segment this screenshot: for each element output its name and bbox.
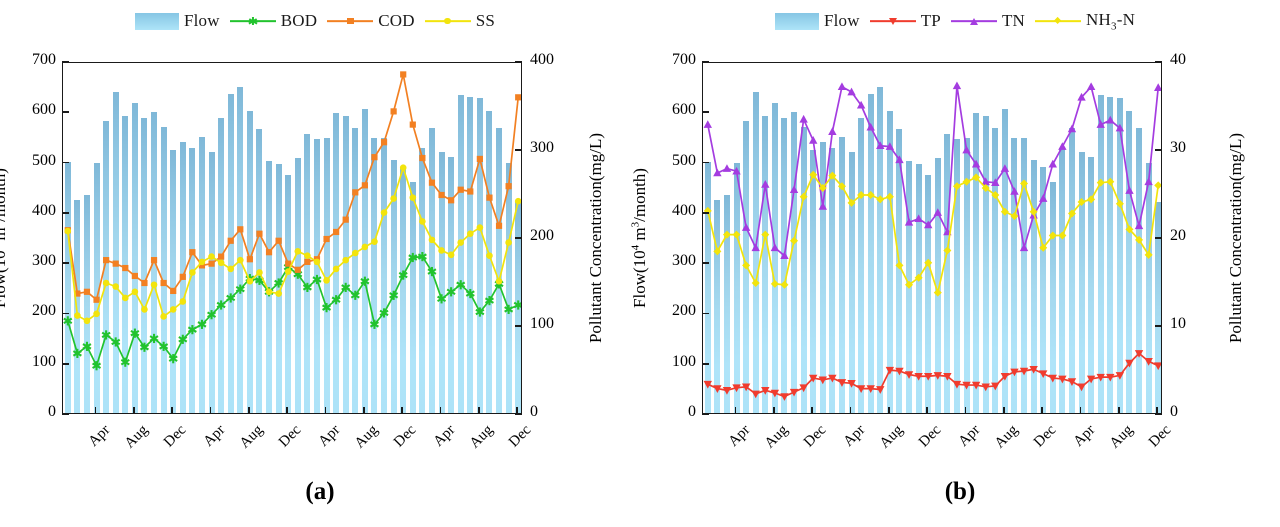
marker-square-icon	[208, 261, 214, 267]
marker-circle-icon	[93, 311, 100, 318]
x-axis-tick	[773, 407, 775, 414]
marker-tri-up-icon	[1020, 243, 1028, 251]
marker-circle-icon	[141, 306, 148, 313]
flow-bar-swatch-icon	[135, 13, 179, 30]
marker-diamond-icon	[943, 246, 951, 254]
marker-circle-icon	[179, 298, 186, 305]
y-axis-tick-left	[702, 162, 709, 164]
legend-a-label: BOD	[281, 11, 318, 31]
y-axis-label-right: 0	[530, 403, 574, 421]
panel-a-label: (a)	[0, 478, 640, 506]
marker-tri-up-icon	[1087, 82, 1095, 90]
x-axis-label: Dec	[905, 422, 945, 462]
x-axis-tick	[516, 407, 518, 414]
legend-b-label: NH3-N	[1086, 10, 1135, 32]
marker-diamond-icon	[780, 281, 788, 289]
x-axis-label: Aug	[227, 422, 267, 462]
marker-circle-icon	[477, 224, 484, 231]
marker-tri-up-icon	[752, 243, 760, 251]
marker-star-icon	[514, 300, 522, 309]
marker-circle-icon	[218, 259, 225, 266]
series-lines	[63, 63, 522, 414]
marker-circle-icon	[438, 247, 445, 254]
y-axis-tick-left	[702, 363, 709, 365]
plot-area-a: 01002003004005006007000100200300400AprAu…	[62, 62, 522, 414]
legend-a-item-ss[interactable]: SS	[425, 11, 495, 31]
marker-circle-icon	[314, 259, 321, 266]
x-axis-label: Apr	[828, 422, 868, 462]
marker-square-icon	[132, 273, 138, 279]
marker-tri-dn-icon	[780, 393, 788, 401]
legend-b-label: TN	[1002, 11, 1025, 31]
marker-square-icon	[276, 238, 282, 244]
marker-circle-icon	[266, 289, 273, 296]
marker-circle-icon	[496, 278, 503, 285]
marker-diamond-icon	[934, 289, 942, 297]
marker-diamond-icon	[713, 247, 721, 255]
marker-tri-up-icon	[1058, 142, 1066, 150]
marker-square-icon	[266, 249, 272, 255]
marker-tri-up-icon	[953, 81, 961, 89]
x-axis-tick	[1118, 407, 1120, 414]
marker-star-icon	[64, 316, 72, 325]
y-axis-label-right: 0	[1170, 403, 1214, 421]
marker-square-icon	[228, 238, 234, 244]
marker-circle-icon	[275, 290, 282, 297]
panel-b: FlowTPTNNH3-N 01002003004005006007000102…	[640, 0, 1280, 527]
marker-tri-up-icon	[1106, 116, 1114, 124]
x-axis-tick	[210, 407, 212, 414]
marker-diamond-icon	[895, 261, 903, 269]
marker-square-icon	[381, 139, 387, 145]
marker-square-icon	[448, 197, 454, 203]
y-axis-label-right: 300	[530, 139, 574, 157]
marker-star-icon	[83, 342, 91, 351]
x-axis-tick	[401, 407, 403, 414]
x-axis-tick	[850, 407, 852, 414]
marker-circle-icon	[64, 228, 71, 235]
marker-tri-dn-icon	[1068, 378, 1076, 386]
x-axis-tick	[926, 407, 928, 414]
marker-diamond-icon	[742, 261, 750, 269]
marker-tri-dn-icon	[889, 18, 897, 25]
marker-circle-icon	[505, 239, 512, 246]
marker-circle-icon	[160, 313, 167, 320]
y-axis-label-left: 200	[16, 302, 56, 320]
marker-tri-up-icon	[828, 127, 836, 135]
marker-square-icon	[467, 188, 473, 194]
x-axis-tick	[1080, 407, 1082, 414]
marker-circle-icon	[189, 269, 196, 276]
marker-square-icon	[304, 259, 310, 265]
marker-square-icon	[170, 288, 176, 294]
marker-circle-icon	[342, 257, 349, 264]
marker-square-icon	[419, 155, 425, 161]
y-axis-label-left: 400	[16, 202, 56, 220]
marker-circle-icon	[444, 18, 451, 25]
x-axis-label: Apr	[188, 422, 228, 462]
marker-diamond-icon	[723, 231, 731, 239]
y-axis-tick-left	[702, 61, 709, 63]
figure-root: FlowBODCODSS 010020030040050060070001002…	[0, 0, 1280, 527]
marker-tri-up-icon	[1068, 125, 1076, 133]
marker-circle-icon	[103, 280, 110, 287]
marker-square-icon	[218, 254, 224, 260]
y-axis-tick-right	[1155, 149, 1162, 151]
marker-circle-icon	[457, 239, 464, 246]
marker-square-icon	[189, 249, 195, 255]
marker-square-icon	[410, 122, 416, 128]
legend-line-tn-icon	[951, 15, 997, 27]
marker-tri-dn-icon	[752, 391, 760, 399]
x-axis-tick	[248, 407, 250, 414]
legend-a-label: Flow	[184, 11, 220, 31]
x-axis-tick	[440, 407, 442, 414]
marker-circle-icon	[294, 248, 301, 255]
legend-a-label: SS	[476, 11, 495, 31]
marker-square-icon	[347, 18, 354, 25]
x-axis-tick	[1156, 407, 1158, 414]
marker-circle-icon	[304, 252, 311, 259]
marker-star-icon	[505, 305, 513, 314]
marker-tri-up-icon	[761, 180, 769, 188]
marker-circle-icon	[132, 289, 139, 296]
marker-square-icon	[122, 265, 128, 271]
marker-square-icon	[438, 192, 444, 198]
marker-diamond-icon	[1097, 179, 1105, 187]
marker-circle-icon	[199, 259, 206, 266]
x-axis-label: Dec	[790, 422, 830, 462]
marker-tri-up-icon	[1049, 160, 1057, 168]
marker-square-icon	[180, 274, 186, 280]
marker-diamond-icon	[1087, 195, 1095, 203]
x-axis-tick	[95, 407, 97, 414]
marker-circle-icon	[352, 250, 359, 257]
marker-diamond-icon	[733, 231, 741, 239]
flow-bar-swatch-icon	[775, 13, 819, 30]
marker-diamond-icon	[1106, 178, 1114, 186]
x-axis-tick	[133, 407, 135, 414]
marker-star-icon	[102, 330, 110, 339]
legend-line-ss-icon	[425, 15, 471, 27]
marker-circle-icon	[237, 257, 244, 264]
marker-diamond-icon	[953, 182, 961, 190]
y-axis-label-left: 0	[656, 403, 696, 421]
marker-circle-icon	[285, 268, 292, 275]
marker-square-icon	[256, 231, 262, 237]
y-axis-tick-right	[515, 61, 522, 63]
y-axis-label-left: 600	[16, 101, 56, 119]
marker-diamond-icon	[1154, 181, 1162, 189]
y-axis-tick-left	[702, 313, 709, 315]
x-axis-tick	[478, 407, 480, 414]
marker-square-icon	[151, 257, 157, 263]
marker-tri-up-icon	[1001, 164, 1009, 172]
y-axis-tick-left	[62, 111, 69, 113]
panel-b-label: (b)	[640, 478, 1280, 506]
y-axis-label-right: 30	[1170, 139, 1214, 157]
marker-square-icon	[515, 94, 521, 100]
legend-line-bod-icon	[230, 15, 276, 27]
marker-diamond-icon	[1058, 231, 1066, 239]
legend-a-item-flow[interactable]: Flow	[135, 11, 220, 31]
marker-circle-icon	[208, 253, 215, 260]
x-axis-label: Apr	[1058, 422, 1098, 462]
y-axis-tick-right	[1155, 61, 1162, 63]
legend-line-cod-icon	[327, 15, 373, 27]
marker-square-icon	[237, 226, 243, 232]
marker-square-icon	[343, 217, 349, 223]
marker-square-icon	[477, 156, 483, 162]
marker-tri-up-icon	[704, 120, 712, 128]
marker-tri-up-icon	[723, 164, 731, 172]
marker-diamond-icon	[886, 193, 894, 201]
y-axis-label-left: 600	[656, 101, 696, 119]
marker-diamond-icon	[790, 237, 798, 245]
marker-tri-up-icon	[819, 202, 827, 210]
x-axis-tick	[888, 407, 890, 414]
y-axis-label-left: 300	[16, 252, 56, 270]
y-axis-label-left: 400	[656, 202, 696, 220]
x-axis-label: Dec	[380, 422, 420, 462]
marker-star-icon	[248, 17, 257, 26]
marker-circle-icon	[381, 209, 388, 216]
marker-star-icon	[447, 287, 455, 296]
marker-circle-icon	[409, 194, 416, 201]
marker-circle-icon	[227, 266, 234, 273]
y-axis-tick-left	[702, 413, 709, 415]
line-nh3-n	[708, 175, 1158, 293]
x-axis-label: Apr	[73, 422, 113, 462]
legend-line-tp-icon	[870, 15, 916, 27]
marker-diamond-icon	[1010, 212, 1018, 220]
marker-tri-up-icon	[934, 208, 942, 216]
y-axis-label-left: 200	[656, 302, 696, 320]
marker-square-icon	[352, 189, 358, 195]
marker-tri-up-icon	[742, 223, 750, 231]
plot-frame	[62, 62, 522, 414]
x-axis-tick	[325, 407, 327, 414]
y-axis-tick-left	[702, 262, 709, 264]
legend-panel-a: FlowBODCODSS	[0, 8, 640, 34]
marker-tri-up-icon	[1135, 221, 1143, 229]
x-axis-label: Aug	[457, 422, 497, 462]
y-axis-tick-left	[62, 413, 69, 415]
y-axis-label-left: 500	[16, 152, 56, 170]
y-axis-label-left: 700	[656, 51, 696, 69]
marker-tri-up-icon	[1125, 186, 1133, 194]
marker-circle-icon	[151, 281, 158, 288]
marker-diamond-icon	[752, 279, 760, 287]
marker-square-icon	[333, 229, 339, 235]
marker-tri-up-icon	[847, 88, 855, 96]
y-axis-tick-left	[62, 162, 69, 164]
marker-diamond-icon	[761, 231, 769, 239]
marker-circle-icon	[112, 283, 119, 290]
legend-b-item-tn[interactable]: TN	[951, 11, 1025, 31]
y-axis-title-right: Pollutant Concentration(mg/L)	[1226, 133, 1246, 343]
y-axis-label-right: 20	[1170, 227, 1214, 245]
marker-square-icon	[506, 183, 512, 189]
marker-square-icon	[429, 180, 435, 186]
x-axis-tick	[735, 407, 737, 414]
marker-star-icon	[399, 270, 407, 279]
marker-tri-up-icon	[867, 123, 875, 131]
marker-star-icon	[112, 337, 120, 346]
marker-circle-icon	[333, 266, 340, 273]
legend-b-item-tp[interactable]: TP	[870, 11, 941, 31]
x-axis-label: Apr	[303, 422, 343, 462]
marker-star-icon	[121, 358, 129, 367]
marker-star-icon	[438, 294, 446, 303]
marker-tri-up-icon	[1010, 187, 1018, 195]
marker-square-icon	[93, 297, 99, 303]
line-cod	[68, 74, 518, 299]
y-axis-label-left: 300	[656, 252, 696, 270]
marker-square-icon	[496, 223, 502, 229]
y-axis-title-left: Flow(104 m3/month)	[629, 168, 650, 308]
line-tn	[708, 86, 1158, 256]
marker-diamond-icon	[1001, 208, 1009, 216]
legend-a-item-cod[interactable]: COD	[327, 11, 415, 31]
marker-tri-dn-icon	[723, 387, 731, 395]
x-axis-tick	[363, 407, 365, 414]
x-axis-label: Dec	[265, 422, 305, 462]
y-axis-label-left: 0	[16, 403, 56, 421]
y-axis-label-left: 500	[656, 152, 696, 170]
y-axis-label-right: 10	[1170, 315, 1214, 333]
marker-tri-up-icon	[771, 243, 779, 251]
marker-circle-icon	[429, 237, 436, 244]
marker-square-icon	[458, 187, 464, 193]
marker-tri-up-icon	[1144, 177, 1152, 185]
x-axis-label: Apr	[943, 422, 983, 462]
marker-circle-icon	[467, 230, 474, 237]
marker-square-icon	[161, 280, 167, 286]
y-axis-tick-left	[62, 61, 69, 63]
legend-line-nh3-n-icon	[1035, 15, 1081, 27]
marker-diamond-icon	[963, 178, 971, 186]
legend-b-item-flow[interactable]: Flow	[775, 11, 860, 31]
marker-diamond-icon	[771, 280, 779, 288]
legend-b-label: TP	[921, 11, 941, 31]
marker-circle-icon	[256, 269, 263, 276]
marker-square-icon	[362, 182, 368, 188]
x-axis-tick	[1003, 407, 1005, 414]
marker-tri-dn-icon	[819, 377, 827, 385]
x-axis-label: Apr	[713, 422, 753, 462]
legend-b-label: Flow	[824, 11, 860, 31]
marker-square-icon	[247, 256, 253, 262]
series-lines	[703, 63, 1162, 414]
marker-tri-up-icon	[970, 18, 978, 25]
marker-tri-up-icon	[838, 82, 846, 90]
marker-square-icon	[323, 236, 329, 242]
y-axis-tick-right	[515, 237, 522, 239]
marker-tri-up-icon	[799, 115, 807, 123]
y-axis-label-right: 200	[530, 227, 574, 245]
marker-square-icon	[400, 71, 406, 77]
y-axis-label-right: 40	[1170, 51, 1214, 69]
marker-circle-icon	[323, 277, 330, 284]
x-axis-tick	[965, 407, 967, 414]
y-axis-tick-left	[62, 262, 69, 264]
x-axis-label: Aug	[752, 422, 792, 462]
y-axis-label-right: 400	[530, 51, 574, 69]
marker-tri-up-icon	[1154, 83, 1162, 91]
legend-b-item-nh3-n[interactable]: NH3-N	[1035, 10, 1135, 32]
y-axis-tick-right	[515, 325, 522, 327]
marker-circle-icon	[122, 295, 129, 302]
marker-circle-icon	[419, 218, 426, 225]
marker-diamond-icon	[1116, 200, 1124, 208]
y-axis-label-left: 100	[656, 353, 696, 371]
y-axis-label-left: 100	[16, 353, 56, 371]
marker-square-icon	[113, 261, 119, 267]
marker-diamond-icon	[1054, 17, 1061, 24]
marker-tri-up-icon	[809, 136, 817, 144]
marker-circle-icon	[74, 312, 81, 319]
marker-square-icon	[141, 280, 147, 286]
marker-diamond-icon	[867, 191, 875, 199]
y-axis-label-right: 100	[530, 315, 574, 333]
marker-square-icon	[103, 257, 109, 263]
line-ss	[68, 168, 518, 321]
marker-tri-up-icon	[914, 214, 922, 222]
legend-panel-b: FlowTPTNNH3-N	[640, 8, 1280, 34]
y-axis-tick-left	[702, 111, 709, 113]
marker-square-icon	[391, 108, 397, 114]
x-axis-label: Apr	[418, 422, 458, 462]
y-axis-title-left: Flow(104 m3/month)	[0, 168, 10, 308]
marker-circle-icon	[247, 278, 254, 285]
marker-square-icon	[486, 195, 492, 201]
y-axis-tick-left	[62, 363, 69, 365]
y-axis-tick-right	[1155, 325, 1162, 327]
x-axis-label: Aug	[1097, 422, 1137, 462]
marker-circle-icon	[170, 306, 177, 313]
y-axis-tick-left	[702, 212, 709, 214]
y-axis-tick-left	[62, 212, 69, 214]
x-axis-tick	[811, 407, 813, 414]
x-axis-label: Aug	[867, 422, 907, 462]
panel-a: FlowBODCODSS 010020030040050060070001002…	[0, 0, 640, 527]
marker-diamond-icon	[876, 195, 884, 203]
x-axis-label: Dec	[150, 422, 190, 462]
y-axis-title-right: Pollutant Concentration(mg/L)	[586, 133, 606, 343]
x-axis-tick	[1041, 407, 1043, 414]
marker-circle-icon	[84, 318, 91, 325]
plot-area-b: 0100200300400500600700010203040AprAugDec…	[702, 62, 1162, 414]
marker-star-icon	[73, 349, 81, 358]
marker-circle-icon	[486, 252, 493, 259]
marker-star-icon	[93, 361, 101, 370]
marker-circle-icon	[362, 244, 369, 251]
x-axis-tick	[286, 407, 288, 414]
x-axis-label: Aug	[342, 422, 382, 462]
marker-circle-icon	[515, 198, 522, 205]
x-axis-tick	[171, 407, 173, 414]
x-axis-label: Dec	[1020, 422, 1060, 462]
legend-a-item-bod[interactable]: BOD	[230, 11, 318, 31]
y-axis-tick-right	[1155, 237, 1162, 239]
marker-tri-up-icon	[790, 185, 798, 193]
marker-circle-icon	[400, 164, 407, 171]
x-axis-label: Dec	[1135, 422, 1175, 462]
plot-frame	[702, 62, 1162, 414]
marker-tri-dn-icon	[1154, 362, 1162, 370]
marker-square-icon	[84, 289, 90, 295]
